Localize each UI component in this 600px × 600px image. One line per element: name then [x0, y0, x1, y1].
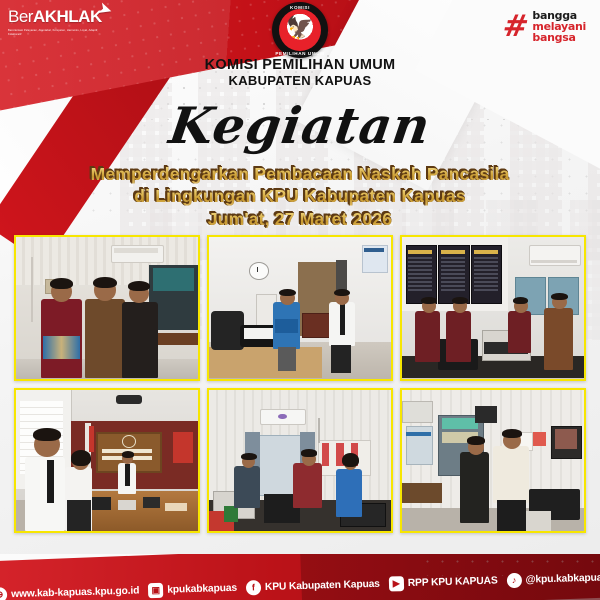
photo-grid: [14, 235, 586, 533]
emblem-outer-ring: KOMISI PEMILIHAN UMUM 🦅: [272, 2, 328, 58]
photo-5: [209, 390, 391, 532]
photo-cell[interactable]: [207, 235, 393, 381]
photo-2: [209, 237, 391, 379]
photo-6: [402, 390, 584, 532]
bangga-word-3: bangsa: [532, 32, 586, 43]
globe-icon: ⊕: [0, 587, 7, 600]
institution-title: KOMISI PEMILIHAN UMUM KABUPATEN KAPUAS: [0, 58, 600, 89]
institution-line-2: KABUPATEN KAPUAS: [0, 74, 600, 89]
footer-bar: ⊕ www.kab-kapuas.kpu.go.id ▣ kpukabkapua…: [0, 554, 600, 600]
beraklak-word: AKHLAK: [33, 7, 102, 26]
bangga-melayani-bangsa-logo: # bangga melayani bangsa: [503, 10, 586, 44]
social-item-tiktok[interactable]: ♪ @kpu.kabkapuas: [506, 570, 600, 588]
photo-3: [402, 237, 584, 379]
beraklak-logo: BerAKHLAK ➤ Berorientasi Pelayanan, Akun…: [8, 8, 103, 36]
photo-cell[interactable]: [14, 388, 200, 534]
facebook-icon: f: [246, 580, 261, 595]
social-item-website[interactable]: ⊕ www.kab-kapuas.kpu.go.id: [0, 583, 139, 600]
instagram-icon: ▣: [148, 582, 163, 597]
poster-canvas: BerAKHLAK ➤ Berorientasi Pelayanan, Akun…: [0, 0, 600, 600]
photo-cell[interactable]: [400, 388, 586, 534]
photo-4: [16, 390, 198, 532]
tiktok-icon: ♪: [506, 572, 521, 587]
social-item-youtube[interactable]: ▶ RPP KPU KAPUAS: [389, 573, 498, 591]
subtitle-line-2: di Lingkungan KPU Kabupaten Kapuas: [0, 185, 600, 207]
hashtag-icon: #: [501, 15, 530, 39]
photo-1: [16, 237, 198, 379]
youtube-label: RPP KPU KAPUAS: [408, 575, 498, 589]
facebook-label: KPU Kabupaten Kapuas: [265, 578, 380, 592]
page-title-script: Kegiatan: [0, 96, 600, 155]
photo-cell[interactable]: [400, 235, 586, 381]
emblem-ring-bottom-text: PEMILIHAN UMUM: [272, 51, 328, 56]
tiktok-label: @kpu.kabkapuas: [525, 572, 600, 585]
event-subtitle: Memperdengarkan Pembacaan Naskah Pancasi…: [0, 163, 600, 230]
beraklak-prefix: Ber: [8, 7, 33, 26]
beraklak-wordmark: BerAKHLAK ➤: [8, 8, 102, 25]
bangga-wordmark: bangga melayani bangsa: [532, 10, 586, 44]
subtitle-line-3: Jum'at, 27 Maret 2026: [0, 208, 600, 230]
photo-cell[interactable]: [207, 388, 393, 534]
social-item-instagram[interactable]: ▣ kpukabkapuas: [148, 580, 237, 597]
website-label: www.kab-kapuas.kpu.go.id: [11, 585, 139, 600]
instagram-label: kpukabkapuas: [167, 582, 237, 595]
subtitle-line-1: Memperdengarkan Pembacaan Naskah Pancasi…: [0, 163, 600, 185]
emblem-inner-disc: 🦅: [279, 9, 321, 51]
institution-line-1: KOMISI PEMILIHAN UMUM: [0, 58, 600, 74]
garuda-icon: 🦅: [286, 17, 313, 39]
photo-cell[interactable]: [14, 235, 200, 381]
beraklak-tagline: Berorientasi Pelayanan, Akuntabel, Kompe…: [8, 29, 100, 36]
kpu-emblem-icon: KOMISI PEMILIHAN UMUM 🦅: [272, 2, 328, 58]
social-item-facebook[interactable]: f KPU Kabupaten Kapuas: [246, 576, 380, 595]
youtube-icon: ▶: [389, 576, 404, 591]
